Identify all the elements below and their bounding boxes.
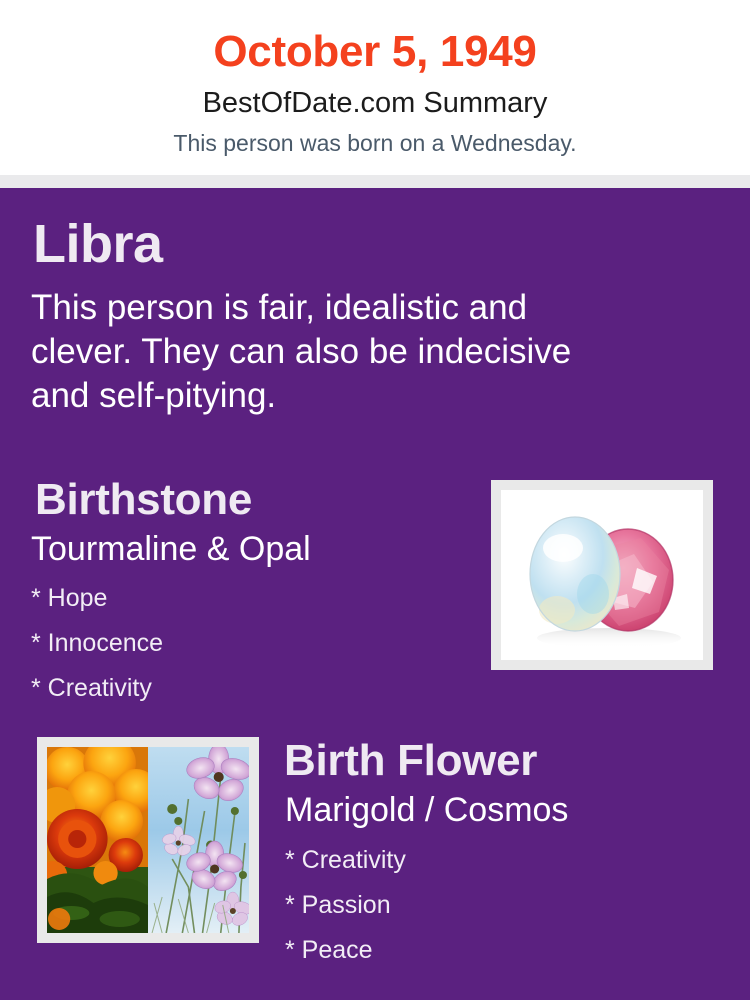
birth-weekday-text: This person was born on a Wednesday. [0,128,750,158]
date-summary-card: October 5, 1949 BestOfDate.com Summary T… [0,0,750,1000]
birthflower-heading: Birth Flower [284,736,537,786]
list-item: * Creativity [31,666,451,711]
cosmos-illustration [148,747,249,933]
gemstones-illustration [501,490,703,660]
list-item: * Innocence [31,621,451,666]
zodiac-sign-heading: Libra [33,214,163,274]
birthstone-image [501,490,703,660]
details-panel: Libra This person is fair, idealistic an… [0,188,750,1000]
marigold-photo [47,747,148,933]
birthflower-image-frame [37,737,259,943]
birthstone-traits-list: * Hope * Innocence * Creativity [31,576,451,711]
list-item: * Creativity [285,838,705,883]
birthflower-names: Marigold / Cosmos [285,789,568,831]
cosmos-photo [148,747,249,933]
birthstone-names: Tourmaline & Opal [31,528,311,570]
list-item: * Peace [285,928,705,973]
site-name-subtitle: BestOfDate.com Summary [0,85,750,121]
list-item: * Passion [285,883,705,928]
zodiac-description: This person is fair, idealistic and clev… [31,286,631,418]
marigold-illustration [47,747,148,933]
header-divider [0,175,750,188]
birthflower-traits-list: * Creativity * Passion * Peace [285,838,705,973]
birthflower-image [47,747,249,933]
list-item: * Hope [31,576,451,621]
page-title-date: October 5, 1949 [0,24,750,80]
birthstone-heading: Birthstone [35,475,252,525]
birthstone-image-frame [491,480,713,670]
card-header: October 5, 1949 BestOfDate.com Summary T… [0,0,750,175]
